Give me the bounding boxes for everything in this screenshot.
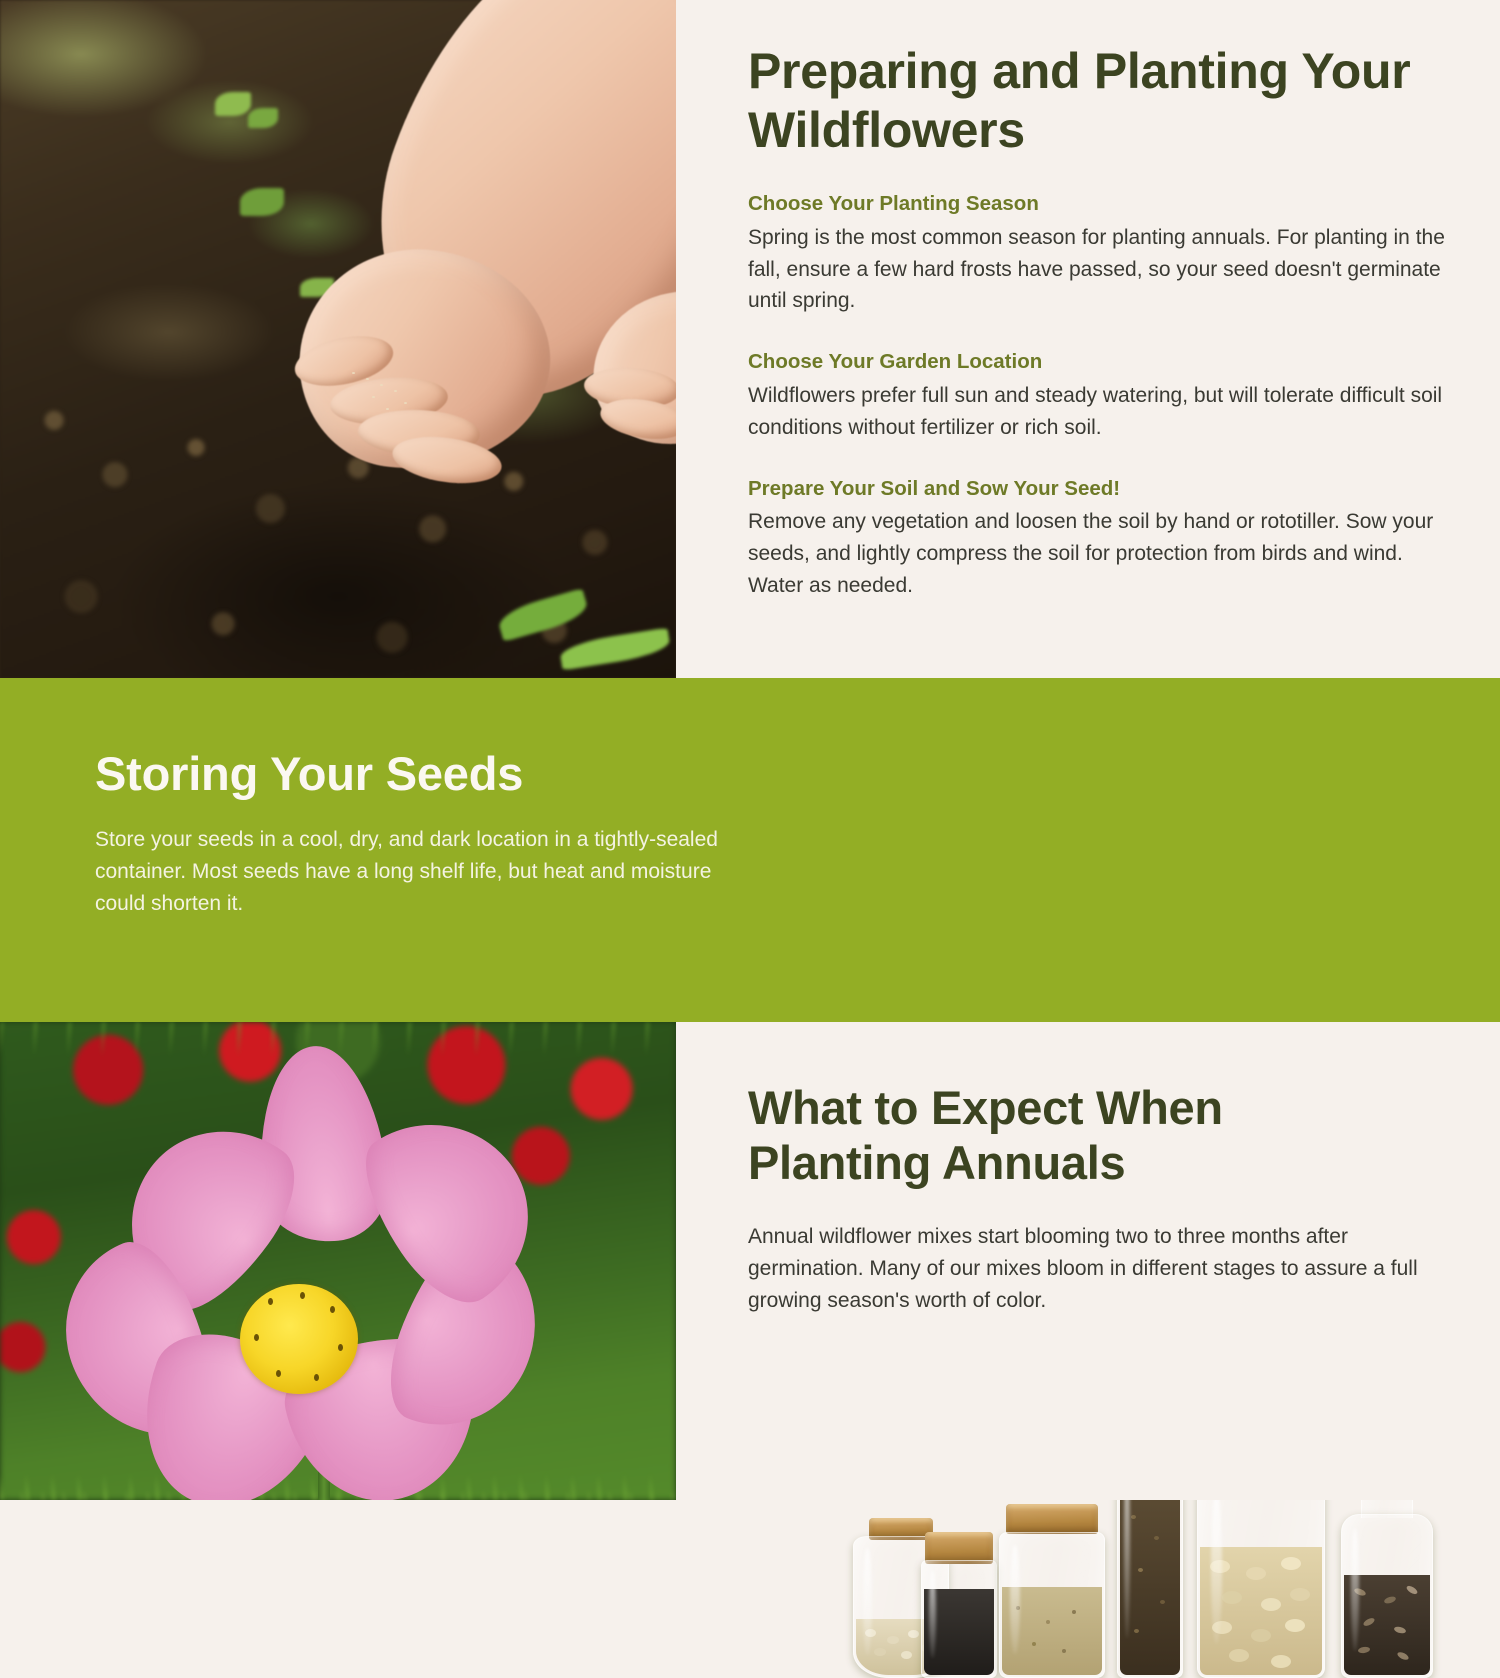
stamen [338, 1344, 343, 1351]
glass-body [1341, 1514, 1433, 1678]
black-seed-jar [921, 1532, 997, 1678]
glass-body [999, 1532, 1105, 1678]
section3-text-panel: What to Expect When Planting Annuals Ann… [676, 1022, 1500, 1500]
body-planting-season: Spring is the most common season for pla… [748, 222, 1448, 318]
stamen [314, 1374, 319, 1381]
section1-text-panel: Preparing and Planting Your Wildflowers … [676, 0, 1500, 678]
glass-highlight [1010, 1545, 1019, 1654]
glass-body [1197, 1472, 1325, 1678]
infographic-page: Preparing and Planting Your Wildflowers … [0, 0, 1500, 1500]
storing-seeds-body: Store your seeds in a cool, dry, and dar… [95, 824, 735, 920]
seed [386, 408, 389, 410]
stamen [300, 1292, 305, 1299]
seed [404, 402, 407, 404]
cosmos-flower-photo [0, 1022, 676, 1500]
subhead-garden-location: Choose Your Garden Location [748, 349, 1452, 375]
glass-body [921, 1560, 997, 1678]
what-to-expect-body: Annual wildflower mixes start blooming t… [748, 1221, 1418, 1317]
seed [380, 384, 383, 386]
glass-highlight [1211, 1489, 1222, 1644]
what-to-expect-title: What to Expect When Planting Annuals [748, 1080, 1408, 1191]
sprout-leaf [240, 188, 284, 216]
subhead-prepare-soil: Prepare Your Soil and Sow Your Seed! [748, 476, 1452, 502]
tan-grain-jar [999, 1504, 1105, 1678]
seed [352, 372, 355, 374]
stamen [330, 1306, 335, 1313]
storing-seeds-band: Storing Your Seeds Store your seeds in a… [0, 678, 1500, 1022]
soil-planting-photo [0, 0, 676, 678]
sprout-leaf [215, 92, 251, 116]
page-title: Preparing and Planting Your Wildflowers [748, 42, 1438, 159]
cork-lid [1006, 1504, 1098, 1534]
sprout-leaf [248, 108, 278, 128]
subhead-planting-season: Choose Your Planting Season [748, 191, 1452, 217]
body-prepare-soil: Remove any vegetation and loosen the soi… [748, 506, 1448, 602]
body-garden-location: Wildflowers prefer full sun and steady w… [748, 380, 1448, 444]
seed [372, 396, 375, 398]
glass-highlight [863, 1548, 871, 1654]
seed [394, 390, 397, 392]
storing-seeds-title: Storing Your Seeds [95, 748, 735, 800]
seed [366, 378, 369, 380]
stamen [268, 1298, 273, 1305]
stamen [276, 1370, 281, 1377]
stamen [254, 1334, 259, 1341]
